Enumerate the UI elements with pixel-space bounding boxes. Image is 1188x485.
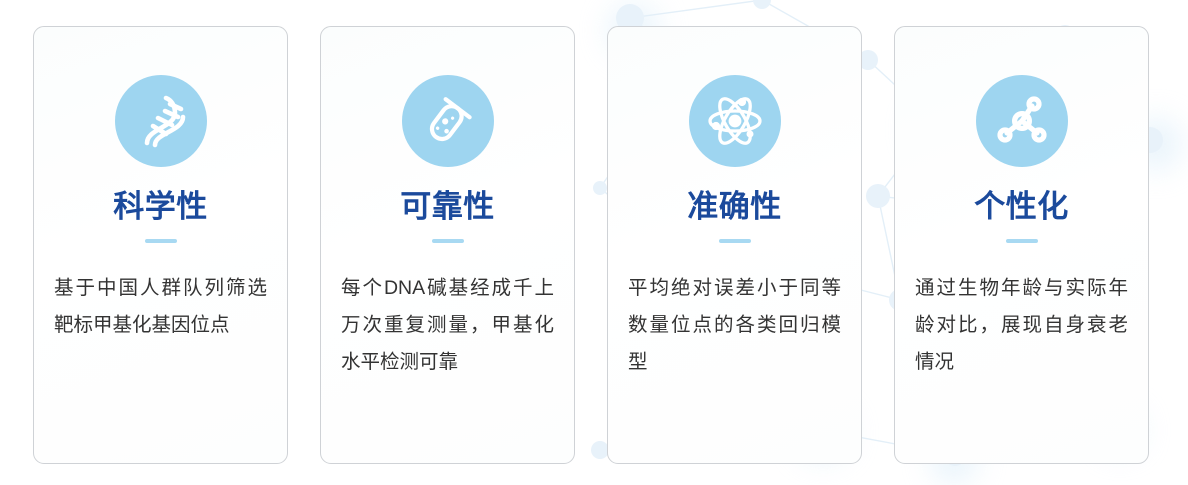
title-divider	[719, 239, 751, 243]
feature-card[interactable]: 科学性 基于中国人群队列筛选靶标甲基化基因位点	[33, 26, 288, 464]
feature-card-list: 科学性 基于中国人群队列筛选靶标甲基化基因位点	[33, 26, 1149, 464]
card-title: 个性化	[974, 191, 1069, 222]
feature-card[interactable]: 准确性 平均绝对误差小于同等数量位点的各类回归模型	[607, 26, 862, 464]
title-divider	[145, 239, 177, 243]
feature-card[interactable]: 个性化 通过生物年龄与实际年龄对比，展现自身衰老情况	[894, 26, 1149, 464]
feature-card[interactable]: 可靠性 每个DNA碱基经成千上万次重复测量，甲基化水平检测可靠	[320, 26, 575, 464]
card-description: 每个DNA碱基经成千上万次重复测量，甲基化水平检测可靠	[341, 270, 554, 381]
card-description: 基于中国人群队列筛选靶标甲基化基因位点	[54, 270, 267, 344]
test-tube-icon	[420, 93, 476, 149]
molecule-icon	[994, 93, 1050, 149]
icon-badge	[402, 75, 494, 167]
icon-badge	[115, 75, 207, 167]
card-title: 准确性	[687, 191, 782, 222]
card-description: 平均绝对误差小于同等数量位点的各类回归模型	[628, 270, 841, 381]
card-description: 通过生物年龄与实际年龄对比，展现自身衰老情况	[915, 270, 1128, 381]
dna-helix-icon	[133, 93, 189, 149]
feature-cards-banner: 科学性 基于中国人群队列筛选靶标甲基化基因位点	[0, 0, 1188, 485]
icon-badge	[689, 75, 781, 167]
card-title: 可靠性	[400, 191, 495, 222]
title-divider	[432, 239, 464, 243]
icon-badge	[976, 75, 1068, 167]
atom-icon	[706, 92, 764, 150]
card-title: 科学性	[113, 191, 208, 222]
title-divider	[1006, 239, 1038, 243]
